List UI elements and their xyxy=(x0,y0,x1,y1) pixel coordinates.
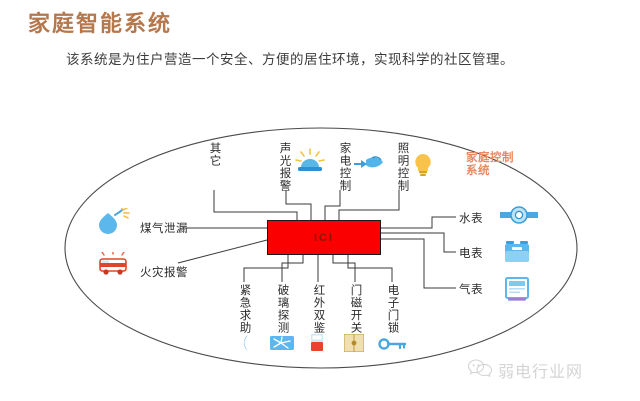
gas-leak-icon xyxy=(96,208,130,234)
glass-break-icon xyxy=(270,336,294,350)
node-label-lighting-control: 照明控制 xyxy=(396,142,408,192)
node-label-appliance-control: 家电控制 xyxy=(338,142,350,192)
fire-truck-icon xyxy=(96,252,130,278)
intro-paragraph: 该系统是为住户营造一个安全、方便的居住环境，实现科学的社区管理。 xyxy=(66,48,514,68)
system-diagram: ICI 家庭控制系统 其它 声光报警 家电控制 xyxy=(0,100,640,401)
wechat-bubble-icon xyxy=(468,359,492,382)
node-label-glass-break-detection: 破璃探测 xyxy=(276,284,288,334)
node-label-gas-meter: 气表 xyxy=(459,281,483,297)
water-meter-icon xyxy=(500,206,538,224)
core-controller-label: ICI xyxy=(314,232,334,244)
node-label-electric-meter: 电表 xyxy=(459,245,483,261)
node-label-electronic-door-lock: 电子门锁 xyxy=(386,284,398,334)
node-label-door-magnet-switch: 门磁开关 xyxy=(349,284,361,334)
watermark: 弱电行业网 xyxy=(468,358,583,382)
electric-meter-icon xyxy=(504,240,530,264)
infrared-sensor-icon xyxy=(310,334,324,352)
node-label-infrared-dual-detector: 红外双鉴 xyxy=(312,284,324,334)
hand-pointer-icon xyxy=(352,154,386,176)
system-callout-label: 家庭控制系统 xyxy=(466,152,518,178)
slide-root: 家庭智能系统 该系统是为住户营造一个安全、方便的居住环境，实现科学的社区管理。 xyxy=(0,0,640,401)
phone-handset-icon xyxy=(236,334,252,352)
door-magnet-icon xyxy=(344,334,364,352)
node-label-emergency-help: 紧急求助 xyxy=(238,284,250,334)
node-label-water-meter: 水表 xyxy=(459,210,483,226)
node-label-sound-light-alarm: 声光报警 xyxy=(278,142,290,192)
siren-icon xyxy=(294,148,326,174)
node-label-fire-alarm: 火灾报警 xyxy=(140,264,188,280)
key-icon xyxy=(378,338,408,350)
gas-meter-icon xyxy=(504,276,530,302)
node-label-gas-leak: 煤气泄漏 xyxy=(140,220,188,236)
core-controller-box[interactable]: ICI xyxy=(267,220,381,255)
node-label-other: 其它 xyxy=(208,142,220,167)
lightbulb-icon xyxy=(412,152,434,178)
watermark-text: 弱电行业网 xyxy=(498,358,583,382)
page-title: 家庭智能系统 xyxy=(28,6,172,38)
